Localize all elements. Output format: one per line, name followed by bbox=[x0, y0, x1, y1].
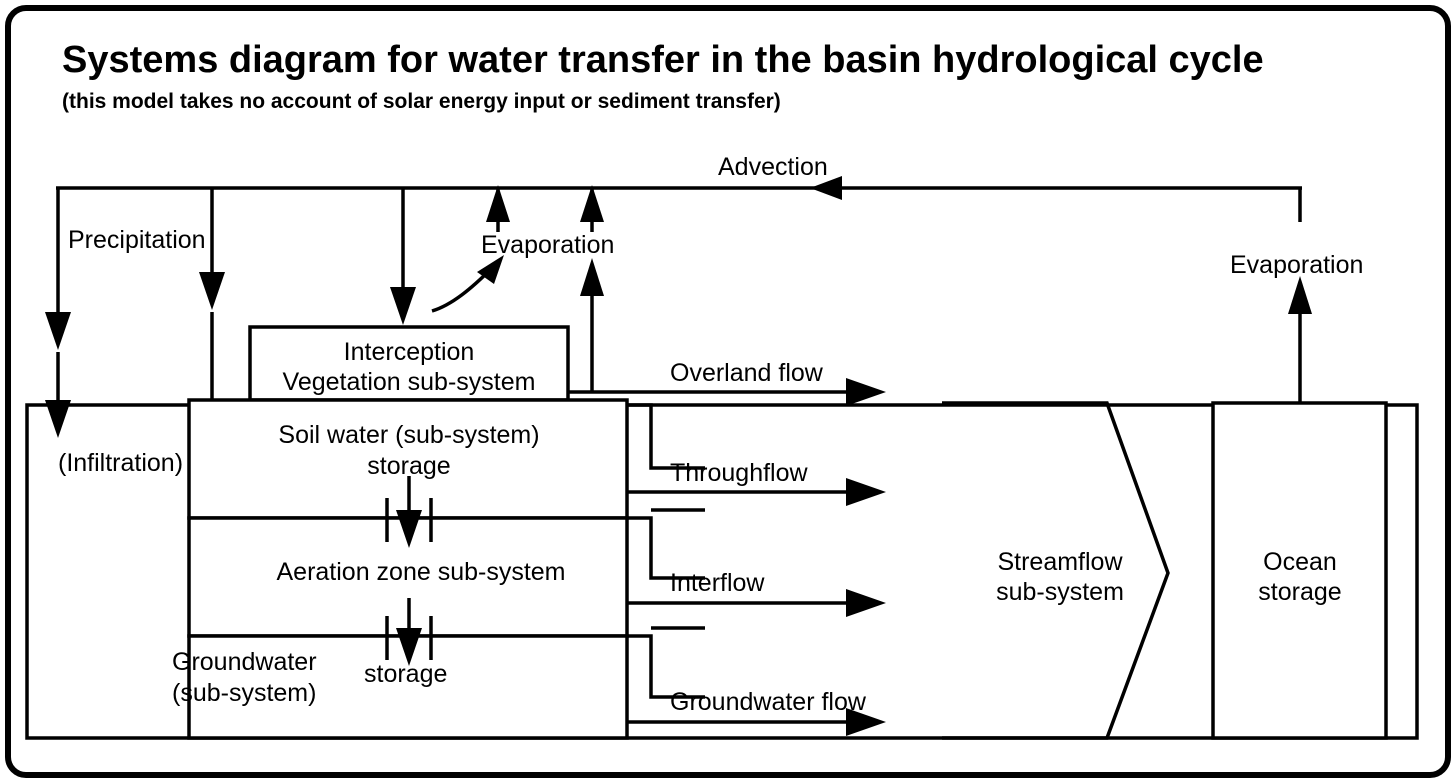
interception-box-label-line2: Vegetation sub-system bbox=[283, 368, 536, 396]
ocean-label-line1: Ocean bbox=[1263, 548, 1337, 576]
groundwater-box-label-line1: Groundwater bbox=[172, 648, 317, 676]
soil-water-box-label-line1: Soil water (sub-system) bbox=[278, 421, 539, 449]
ocean-label-line2: storage bbox=[1258, 578, 1341, 606]
streamflow-label-line2: sub-system bbox=[996, 578, 1124, 606]
evaporation-ocean-label: Evaporation bbox=[1230, 251, 1363, 279]
evaporation-land-label: Evaporation bbox=[481, 231, 614, 259]
aeration-zone-box-label: Aeration zone sub-system bbox=[276, 558, 565, 586]
precipitation-label: Precipitation bbox=[68, 226, 206, 254]
page-title: Systems diagram for water transfer in th… bbox=[62, 39, 1264, 81]
precipitation-arrowhead-3-icon bbox=[390, 287, 416, 325]
soil-water-box-label-line2: storage bbox=[367, 452, 450, 480]
throughflow-arrowhead-icon bbox=[846, 478, 886, 506]
streamflow-label-line1: Streamflow bbox=[997, 548, 1123, 576]
systems-diagram: Systems diagram for water transfer in th… bbox=[0, 0, 1456, 783]
overland-flow-arrowhead-icon bbox=[846, 378, 886, 406]
interception-box-label-line1: Interception bbox=[344, 338, 475, 366]
precipitation-arrowhead-2a-icon bbox=[199, 272, 225, 310]
evaporation-arrowhead-b-icon bbox=[580, 185, 604, 222]
precipitation-arrowhead-1a-icon bbox=[45, 312, 71, 350]
interflow-arrowhead-icon bbox=[846, 589, 886, 617]
precipitation-arrowhead-1b-icon bbox=[45, 400, 71, 438]
advection-label: Advection bbox=[718, 153, 828, 181]
throughflow-label: Throughflow bbox=[670, 459, 809, 487]
interflow-label: Interflow bbox=[670, 569, 765, 597]
groundwater-storage-label: storage bbox=[364, 660, 447, 688]
evaporation-arrowhead-a-icon bbox=[486, 185, 510, 222]
groundwater-flow-label: Groundwater flow bbox=[670, 688, 867, 716]
groundwater-box-label-line2: (sub-system) bbox=[172, 679, 316, 707]
ocean-evaporation-arrowhead-icon bbox=[1288, 276, 1312, 314]
infiltration-label: (Infiltration) bbox=[58, 449, 183, 477]
overland-flow-label: Overland flow bbox=[670, 359, 824, 387]
soil-evaporation-arrowhead-icon bbox=[580, 258, 604, 296]
page-subtitle: (this model takes no account of solar en… bbox=[62, 90, 781, 113]
